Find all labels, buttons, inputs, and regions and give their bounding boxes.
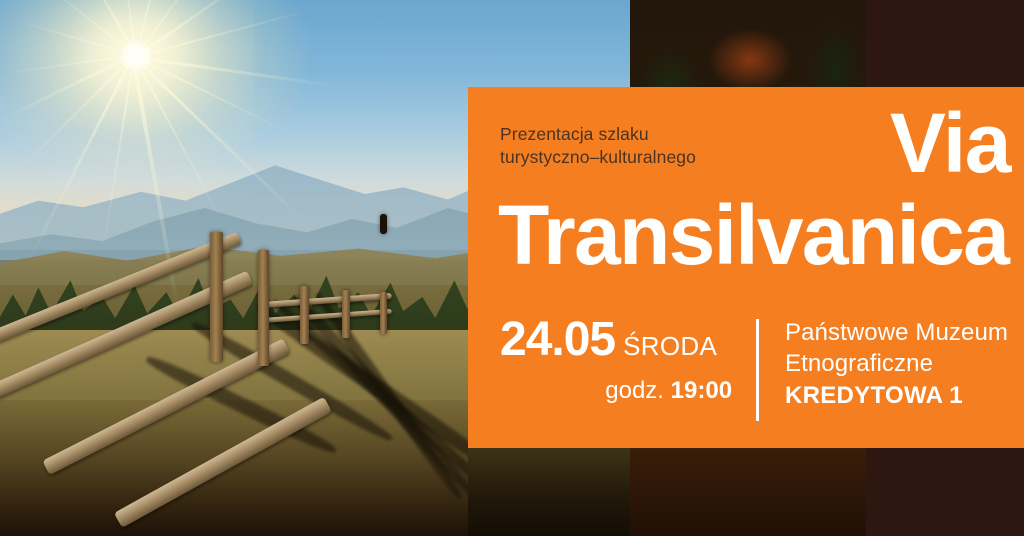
fence-post [258, 250, 269, 366]
venue-name-line-1: Państwowe Muzeum [785, 317, 1008, 348]
title-line-via: Via [890, 101, 1010, 185]
foreground-grass-strip [468, 448, 630, 536]
event-date: 24.05 [500, 315, 615, 365]
hiker-figure [380, 214, 387, 234]
event-poster: Prezentacja szlaku turystyczno–kulturaln… [0, 0, 1024, 536]
venue-name-line-2: Etnograficzne [785, 348, 1008, 379]
title-line-transilvanica: Transilvanica [498, 193, 1008, 277]
vertical-divider [756, 319, 759, 421]
venue-column: Państwowe Muzeum Etnograficzne KREDYTOWA… [785, 315, 1008, 427]
event-time: godz. 19:00 [605, 377, 732, 405]
event-weekday: ŚRODA [623, 331, 717, 361]
sun-disc [118, 38, 154, 74]
venue-address: KREDYTOWA 1 [785, 379, 1008, 412]
fence-post [210, 232, 223, 362]
fence-post [300, 286, 309, 344]
forest-ground [630, 448, 866, 536]
date-main: 24.05 ŚRODA [500, 315, 717, 365]
fence-post [380, 292, 387, 334]
event-kicker: Prezentacja szlaku turystyczno–kulturaln… [500, 123, 770, 169]
fence-post [342, 290, 350, 338]
date-column: 24.05 ŚRODA godz. 19:00 [500, 315, 746, 427]
orange-content-panel: Prezentacja szlaku turystyczno–kulturaln… [468, 87, 1024, 448]
time-label: godz. [605, 377, 664, 404]
time-value: 19:00 [671, 377, 732, 404]
event-details-row: 24.05 ŚRODA godz. 19:00 Państwowe Muzeum… [500, 315, 1008, 427]
